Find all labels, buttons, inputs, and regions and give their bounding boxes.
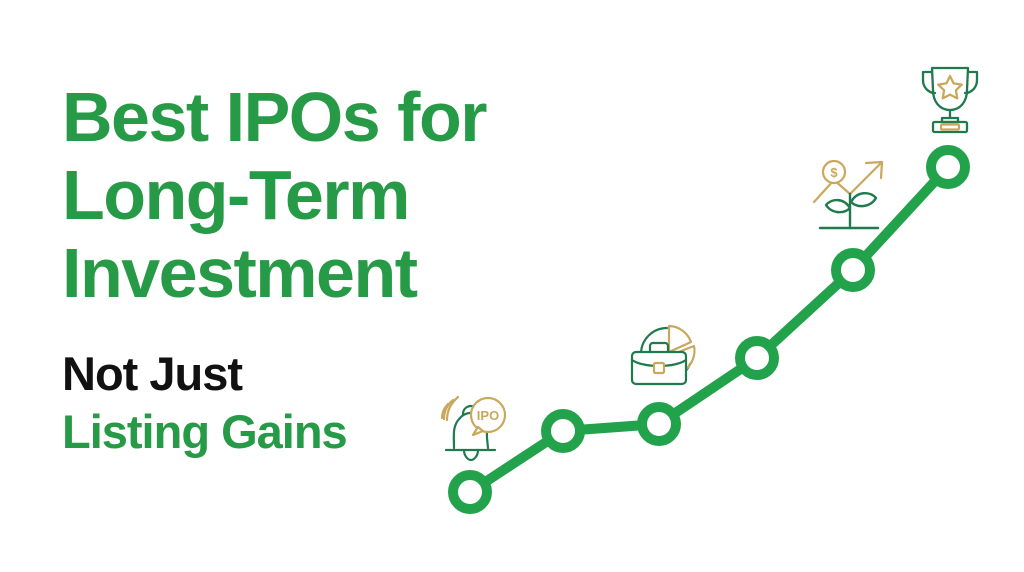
growth-line-chart (0, 0, 1024, 572)
svg-text:$: $ (830, 165, 838, 180)
star-icon (938, 76, 962, 98)
trophy-star-icon (913, 58, 987, 138)
plant-growth-dollar-icon: $ (806, 150, 898, 240)
poster-canvas: Best IPOs for Long-Term Investment Not J… (0, 0, 1024, 572)
ipo-bubble-icon: IPO (471, 398, 505, 435)
chart-node-4 (740, 341, 774, 375)
bell-ipo-icon: IPO (432, 392, 512, 468)
briefcase-pie-chart-icon (624, 312, 706, 392)
chart-node-6 (931, 150, 965, 184)
chart-node-1 (453, 475, 487, 509)
chart-node-2 (546, 414, 580, 448)
dollar-coin-icon: $ (823, 161, 845, 183)
chart-node-5 (836, 253, 870, 287)
ipo-bubble-label: IPO (477, 408, 499, 423)
chart-node-3 (642, 407, 676, 441)
